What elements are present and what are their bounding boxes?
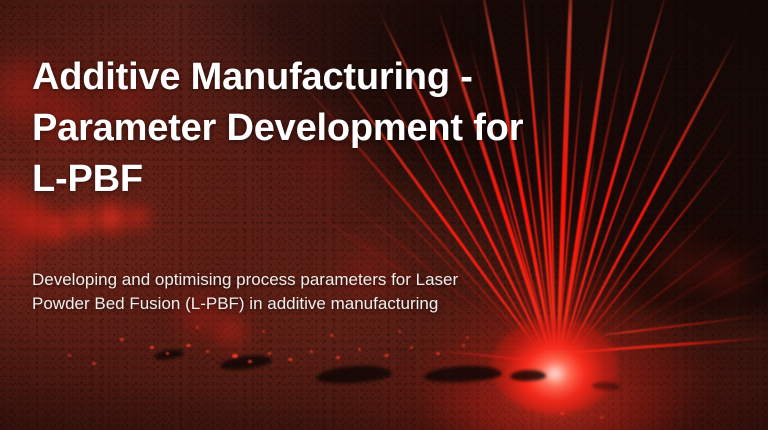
page-title: Additive Manufacturing - Parameter Devel… [32, 52, 592, 205]
page-subtitle: Developing and optimising process parame… [32, 268, 482, 315]
subtitle-block: Developing and optimising process parame… [32, 268, 482, 315]
title-block: Additive Manufacturing - Parameter Devel… [32, 52, 592, 205]
slide-content: Additive Manufacturing - Parameter Devel… [0, 0, 768, 430]
title-slide: Additive Manufacturing - Parameter Devel… [0, 0, 768, 430]
